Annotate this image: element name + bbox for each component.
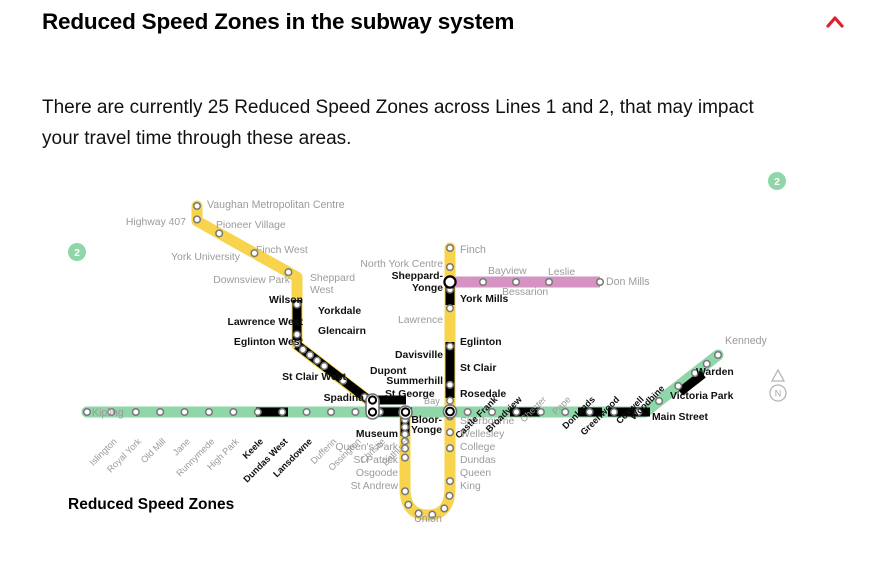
station-dot-ossington[interactable] bbox=[352, 409, 359, 416]
station-dot-bessarion[interactable] bbox=[513, 279, 520, 286]
station-dot-bay[interactable] bbox=[464, 409, 471, 416]
legend-label: Reduced Speed Zones bbox=[68, 496, 234, 513]
station-dot-york-mills[interactable] bbox=[447, 305, 454, 312]
station-label-union: Union bbox=[414, 513, 442, 525]
station-label-victoria-park: Victoria Park bbox=[670, 391, 734, 402]
station-label-kipling: Kipling bbox=[92, 407, 124, 419]
station-label-summerhill: Summerhill bbox=[386, 376, 443, 387]
station-dot-leslie[interactable] bbox=[546, 279, 553, 286]
station-label-finch: Finch bbox=[460, 244, 486, 256]
chevron-up-icon[interactable] bbox=[822, 12, 848, 32]
station-dot-bayview[interactable] bbox=[480, 279, 487, 286]
station-label-bessarion: Bessarion bbox=[502, 287, 548, 298]
station-dot-pioneer-village[interactable] bbox=[216, 230, 223, 237]
station-dot-wellesley[interactable] bbox=[441, 505, 448, 512]
station-dot-royal-york[interactable] bbox=[133, 409, 140, 416]
reduced-speed-zones-panel: Reduced Speed Zones in the subway system… bbox=[0, 0, 890, 562]
interchange-sheppard-yonge[interactable] bbox=[444, 276, 455, 287]
station-label-rosedale: Rosedale bbox=[460, 389, 506, 400]
station-label-kennedy: Kennedy bbox=[725, 335, 768, 347]
station-label-jane: Jane bbox=[171, 436, 192, 457]
station-label-west: West bbox=[310, 285, 334, 296]
line-badge-label: 2 bbox=[774, 176, 780, 188]
station-dot-eglinton-west[interactable] bbox=[321, 363, 328, 370]
station-dot-vaughan-metropolitan-centre[interactable] bbox=[194, 203, 201, 210]
station-dot-eglinton[interactable] bbox=[447, 381, 454, 388]
station-dot-lansdowne[interactable] bbox=[303, 409, 310, 416]
station-label-north-york-centre: North York Centre bbox=[360, 259, 443, 270]
station-label-warden: Warden bbox=[696, 367, 734, 378]
station-dot-sherbourne[interactable] bbox=[446, 492, 453, 499]
compass-letter: N bbox=[775, 389, 782, 399]
line-badge-2[interactable]: 2 bbox=[68, 243, 86, 261]
station-label-pioneer-village: Pioneer Village bbox=[216, 220, 286, 231]
station-label-main-street: Main Street bbox=[652, 412, 709, 423]
station-label-wilson: Wilson bbox=[269, 295, 303, 306]
station-label-leslie: Leslie bbox=[548, 267, 575, 278]
line-badges: 112244 bbox=[68, 160, 786, 261]
station-label-college: College bbox=[460, 442, 495, 453]
station-label-dundas: Dundas bbox=[460, 455, 496, 466]
station-label-st-clair-west: St Clair West bbox=[282, 372, 346, 383]
station-label-york-university: York University bbox=[171, 252, 241, 263]
station-label-king: King bbox=[460, 481, 481, 492]
station-dot-king[interactable] bbox=[402, 488, 409, 495]
station-label-sheppard: Sheppard bbox=[310, 273, 355, 284]
station-dot-queen-s-park[interactable] bbox=[402, 424, 409, 431]
station-label-yonge: Yonge bbox=[411, 425, 442, 436]
page-title: Reduced Speed Zones in the subway system bbox=[42, 8, 514, 35]
line-badge-label: 2 bbox=[74, 247, 80, 259]
station-dot-union[interactable] bbox=[402, 454, 409, 461]
station-dot-highway-407[interactable] bbox=[194, 216, 201, 223]
station-label-yorkdale: Yorkdale bbox=[318, 306, 361, 317]
station-dot-finch[interactable] bbox=[447, 245, 454, 252]
station-dot-lawrence-west[interactable] bbox=[307, 352, 314, 359]
station-dot-lawrence[interactable] bbox=[447, 343, 454, 350]
station-label-old-mill: Old Mill bbox=[139, 436, 168, 465]
station-dot-north-york-centre[interactable] bbox=[447, 264, 454, 271]
station-label-glencairn: Glencairn bbox=[318, 326, 366, 337]
station-label-downsview-park: Downsview Park bbox=[213, 275, 291, 286]
panel-header: Reduced Speed Zones in the subway system bbox=[42, 8, 848, 35]
subway-map-svg: 112244 Vaughan Metropolitan CentreHighwa… bbox=[42, 160, 848, 540]
station-dot-jane[interactable] bbox=[181, 409, 188, 416]
station-dot-old-mill[interactable] bbox=[157, 409, 164, 416]
station-label-lawrence: Lawrence bbox=[398, 315, 443, 326]
station-label-davisville: Davisville bbox=[395, 350, 443, 361]
station-dot-kipling[interactable] bbox=[84, 409, 91, 416]
station-label-don-mills: Don Mills bbox=[606, 276, 650, 288]
station-dot-bloor-yonge[interactable] bbox=[447, 478, 454, 485]
station-label-eglinton: Eglinton bbox=[460, 337, 502, 348]
station-labels: Vaughan Metropolitan CentreHighway 407Pi… bbox=[92, 199, 768, 525]
station-label-queen: Queen bbox=[460, 468, 491, 479]
station-dot-davisville[interactable] bbox=[447, 397, 454, 404]
interchange-bloor-yonge[interactable] bbox=[444, 405, 457, 418]
station-dot-main-street[interactable] bbox=[675, 383, 682, 390]
station-dot-rosedale[interactable] bbox=[447, 445, 454, 452]
station-label-sheppard: Sheppard- bbox=[392, 271, 444, 282]
station-label-bayview: Bayview bbox=[488, 266, 527, 277]
station-dot-dundas-west[interactable] bbox=[279, 409, 286, 416]
station-label-st-clair: St Clair bbox=[460, 363, 496, 374]
station-dot-keele[interactable] bbox=[254, 409, 261, 416]
line-badge-2[interactable]: 2 bbox=[768, 172, 786, 190]
station-dot-kennedy[interactable] bbox=[715, 352, 722, 359]
station-label-spadina: Spadina bbox=[324, 393, 365, 404]
station-label-yonge: Yonge bbox=[412, 283, 443, 294]
station-label-osgoode: Osgoode bbox=[356, 468, 398, 479]
interchange-spadina[interactable] bbox=[366, 394, 379, 419]
station-dot-high-park[interactable] bbox=[230, 409, 237, 416]
station-dot-runnymede[interactable] bbox=[206, 409, 213, 416]
station-label-finch-west: Finch West bbox=[256, 245, 308, 256]
station-label-st-andrew: St Andrew bbox=[351, 481, 399, 492]
station-label-eglinton-west: Eglinton West bbox=[234, 337, 304, 348]
station-dot-glencairn[interactable] bbox=[314, 357, 321, 364]
station-label-bay: Bay bbox=[424, 396, 440, 406]
station-dot-dufferin[interactable] bbox=[328, 409, 335, 416]
station-label-lawrence-west: Lawrence West bbox=[228, 317, 304, 328]
station-dot-queen[interactable] bbox=[405, 501, 412, 508]
map-legend: Reduced Speed Zones bbox=[68, 496, 234, 513]
station-dot-summerhill[interactable] bbox=[447, 429, 454, 436]
panel-description: There are currently 25 Reduced Speed Zon… bbox=[42, 93, 782, 155]
subway-map: 112244 Vaughan Metropolitan CentreHighwa… bbox=[42, 160, 848, 540]
north-arrow-icon: N bbox=[770, 370, 786, 401]
station-dot-don-mills[interactable] bbox=[597, 279, 604, 286]
station-label-vaughan-metropolitan-centre: Vaughan Metropolitan Centre bbox=[207, 199, 345, 211]
station-dot-st-patrick[interactable] bbox=[402, 431, 409, 438]
interchange-st-george[interactable] bbox=[399, 406, 412, 419]
station-label-highway-407: Highway 407 bbox=[126, 217, 186, 228]
